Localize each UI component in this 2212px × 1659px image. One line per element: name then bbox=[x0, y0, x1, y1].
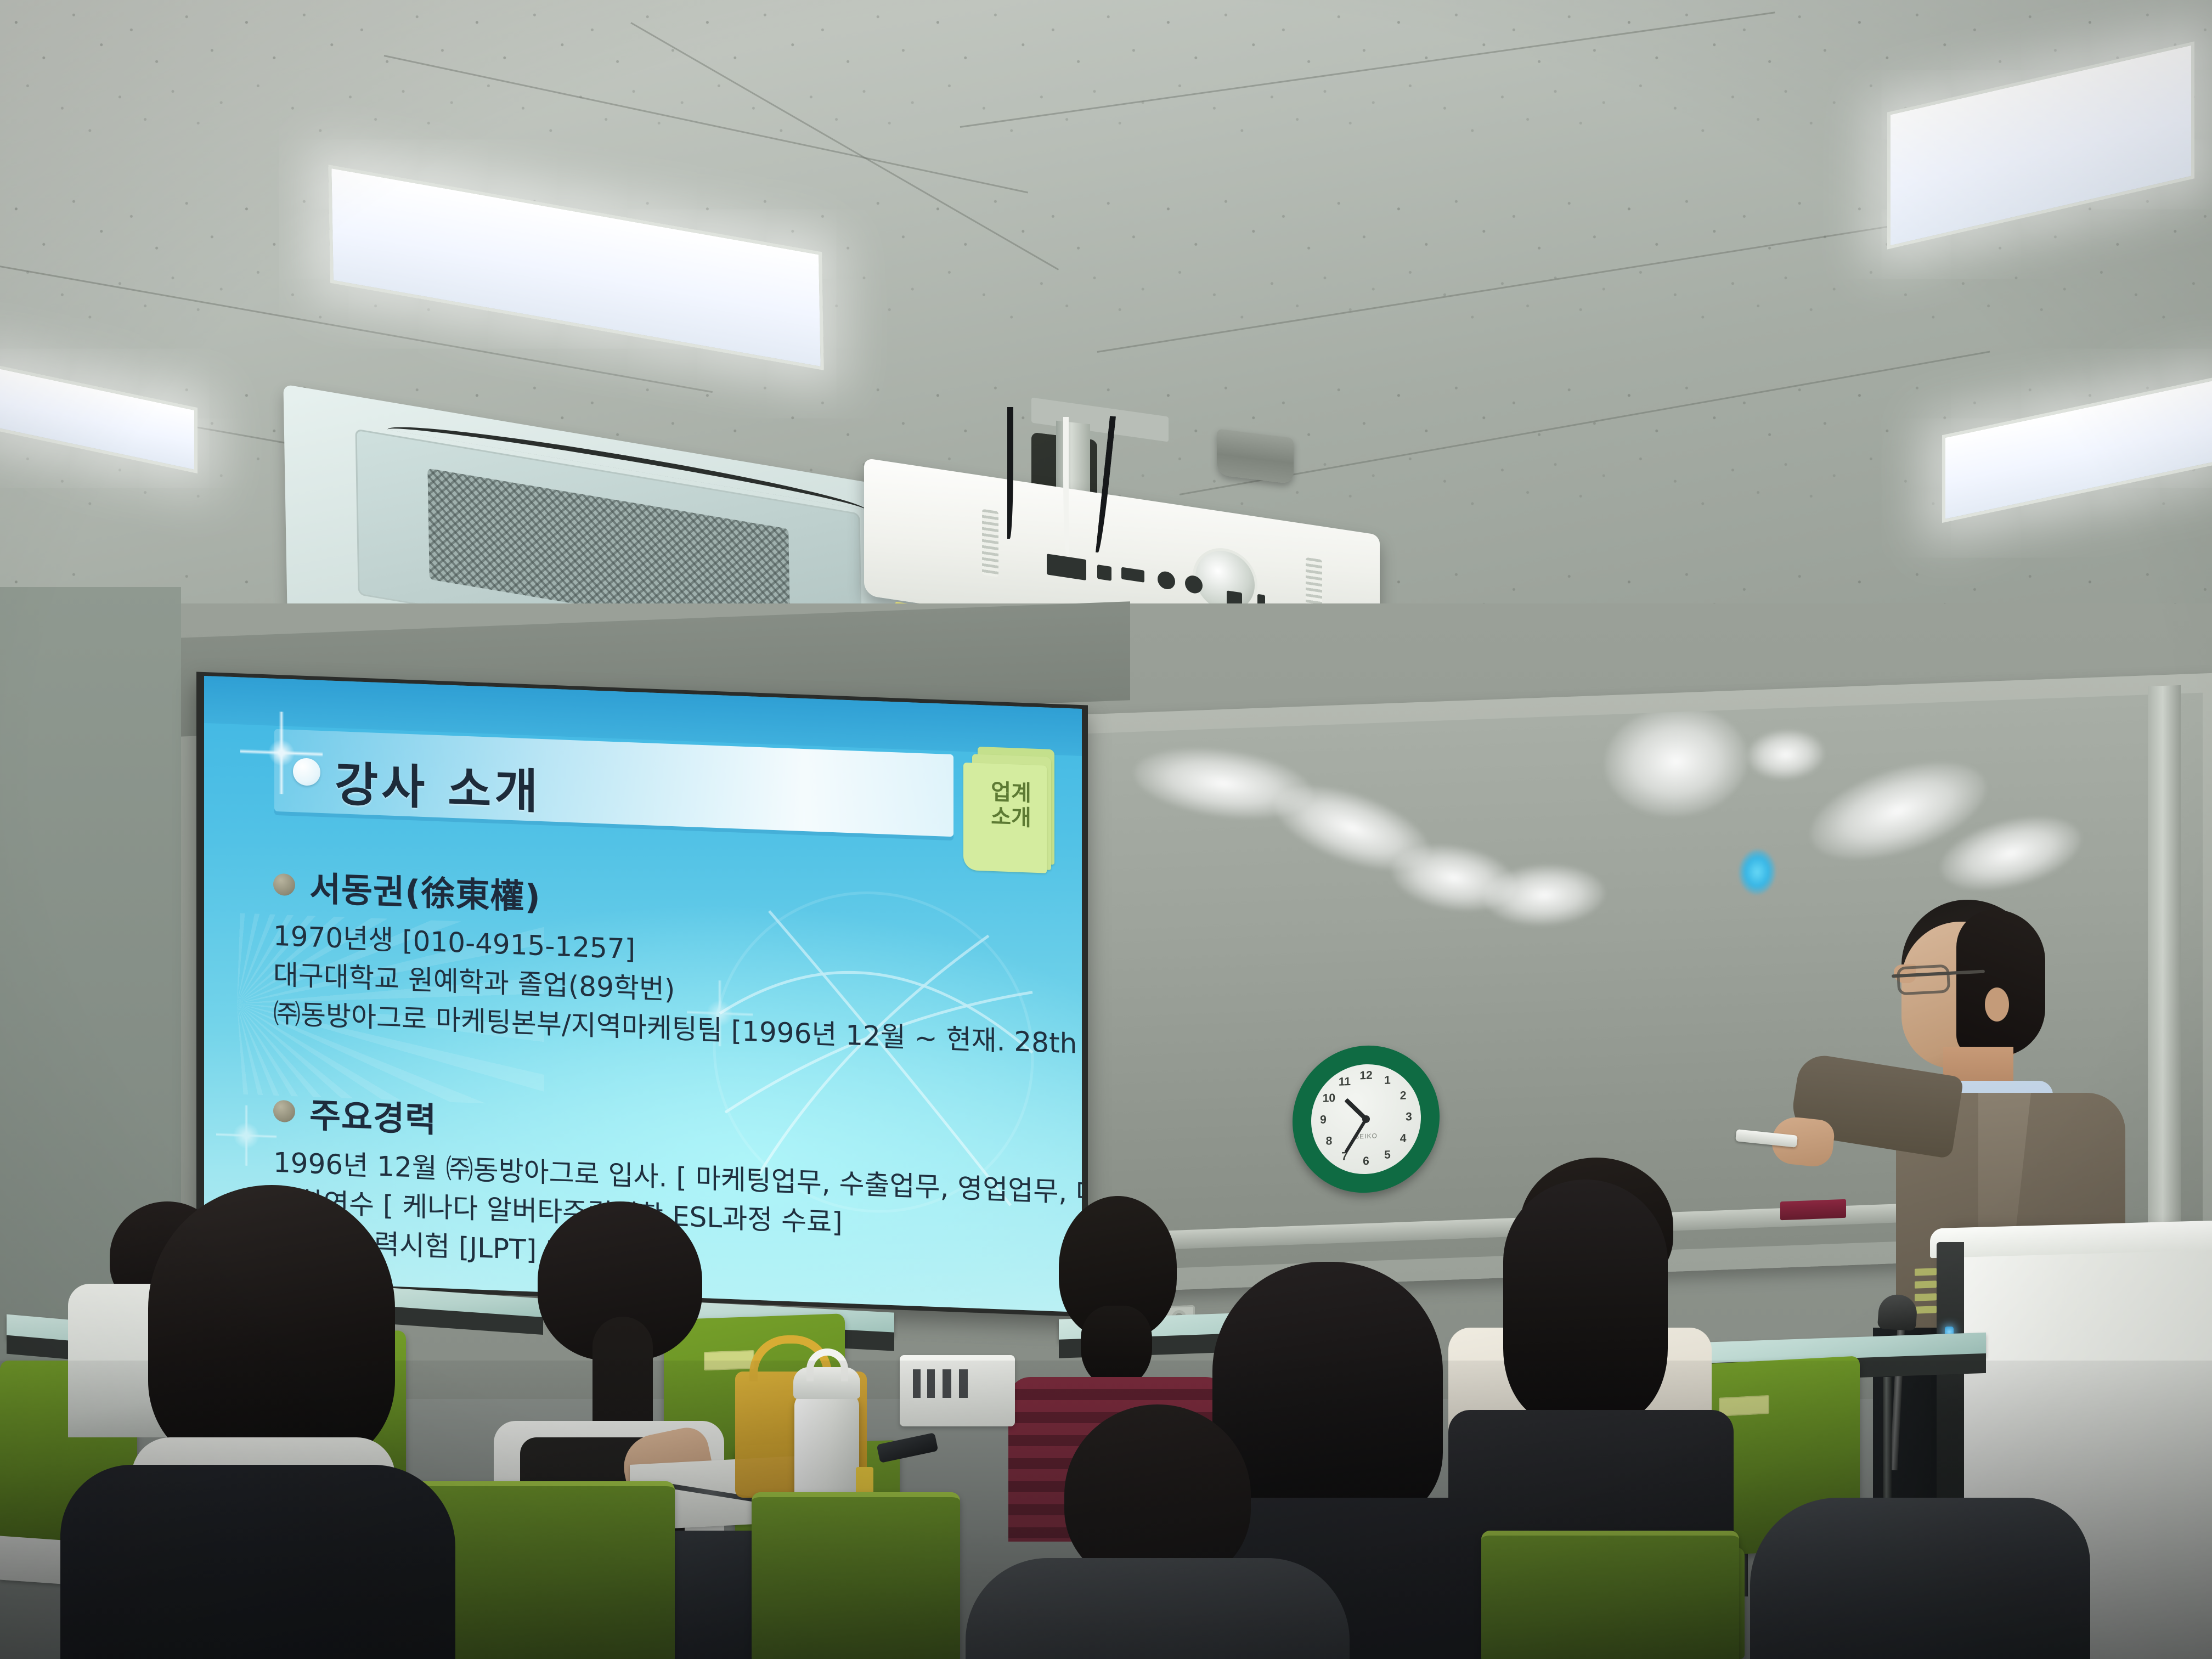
slide-title: 강사 소개 bbox=[335, 746, 541, 822]
whiteboard-right-frame bbox=[2148, 685, 2181, 1273]
whiteboard-glare bbox=[1605, 704, 1747, 819]
slide-tab-label: 업계소개 bbox=[981, 780, 1041, 831]
slide-heading-text: 주요경력 bbox=[309, 1087, 437, 1142]
floor-shadow bbox=[0, 1361, 2212, 1659]
projector-port bbox=[1097, 565, 1111, 581]
clock-numeral: 1 bbox=[1380, 1074, 1395, 1088]
projector-power-cable bbox=[1063, 417, 1069, 554]
slide-heading-text: 서동권(徐東權) bbox=[309, 861, 541, 919]
projector-vent bbox=[982, 509, 998, 577]
smoke-detector-icon bbox=[1217, 428, 1294, 484]
clock-numeral: 6 bbox=[1359, 1155, 1373, 1169]
slide-tab-line: 업계 bbox=[981, 780, 1041, 806]
clock-hour-hand bbox=[1344, 1098, 1367, 1121]
slide-section-tab: 업계소개 bbox=[959, 746, 1058, 887]
clock-face: SEIKO 121234567891011 bbox=[1311, 1063, 1421, 1176]
presenter-hair-back bbox=[1956, 910, 2045, 1057]
classroom-photo: SEIKO 121234567891011 강사 소개 업계소개 bbox=[0, 0, 2212, 1659]
projector-port bbox=[1121, 567, 1144, 583]
slide-bullet-icon bbox=[273, 873, 295, 896]
clock-numeral: 3 bbox=[1402, 1110, 1416, 1124]
clock-numeral: 8 bbox=[1322, 1135, 1336, 1148]
clock-numeral: 12 bbox=[1359, 1069, 1373, 1083]
slide-bullet-icon bbox=[273, 1100, 295, 1123]
slide-tab-line: 소개 bbox=[981, 804, 1041, 831]
clock-numeral: 4 bbox=[1396, 1132, 1410, 1145]
slide-sparkle-icon bbox=[216, 1104, 276, 1167]
clock-numeral: 9 bbox=[1316, 1113, 1330, 1127]
whiteboard-blue-reflection bbox=[1739, 849, 1775, 895]
clock-numeral: 11 bbox=[1338, 1075, 1352, 1089]
clock-numeral: 5 bbox=[1380, 1148, 1395, 1162]
whiteboard-glare bbox=[1747, 729, 1824, 781]
clock-numeral: 2 bbox=[1396, 1089, 1410, 1103]
projector-port bbox=[1047, 554, 1086, 580]
glasses-icon bbox=[1897, 964, 1951, 996]
lectern-label bbox=[1915, 1268, 1937, 1313]
presenter-ear bbox=[1985, 988, 2009, 1022]
slide-title-bullet-icon bbox=[293, 758, 320, 786]
projector-port bbox=[1158, 570, 1175, 590]
clock-numeral: 10 bbox=[1322, 1092, 1336, 1105]
